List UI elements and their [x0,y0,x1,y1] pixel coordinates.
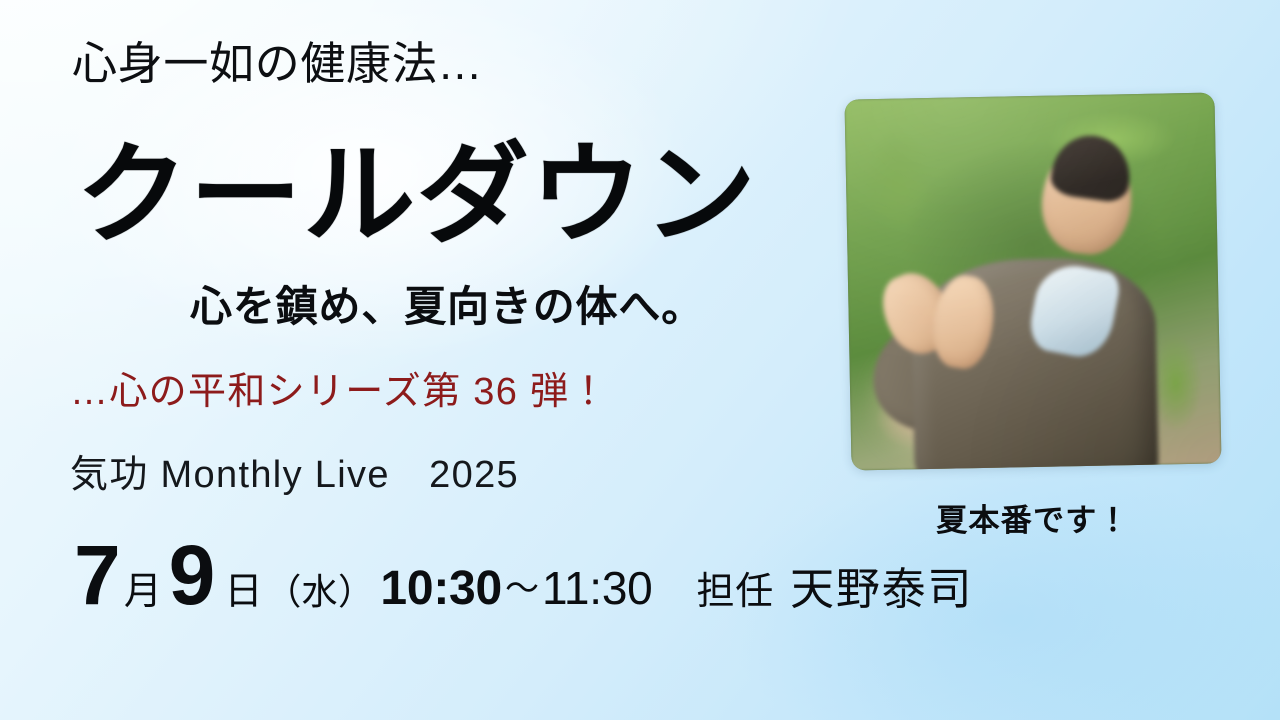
schedule-start-time: 10:30 [380,565,502,613]
tagline-text: 心を鎮め、夏向きの体へ。 [190,286,704,328]
schedule-month-number: 7 [74,533,120,617]
photo-light-overlay [844,92,1221,470]
schedule-end-time: 11:30 [542,565,653,611]
page-title: クールダウン [76,141,757,251]
program-name: 気功 Monthly Live 2025 [70,456,519,494]
teacher-name: 天野泰司 [790,568,973,612]
photo-card [844,92,1221,470]
schedule-strip: 7 月 9 日 （水） 10:30 ～ 11:30 担任 天野泰司 [74,533,973,633]
schedule-month-unit: 月 [124,573,163,611]
instructor-photo [844,92,1221,470]
schedule-day-number: 9 [169,533,215,617]
schedule-weekday: （水） [265,574,374,610]
schedule-time-separator: ～ [505,572,539,606]
series-badge: …心の平和シリーズ第 36 弾！ [70,373,609,411]
photo-caption: 夏本番です！ [848,495,1218,540]
text-column: 心身一如の健康法… クールダウン 心を鎮め、夏向きの体へ。 …心の平和シリーズ第… [0,0,840,720]
teacher-label: 担任 [697,573,775,611]
lede-text: 心身一如の健康法… [72,41,483,86]
schedule-day-unit: 日 [225,573,264,611]
poster-canvas: 心身一如の健康法… クールダウン 心を鎮め、夏向きの体へ。 …心の平和シリーズ第… [0,0,1280,720]
